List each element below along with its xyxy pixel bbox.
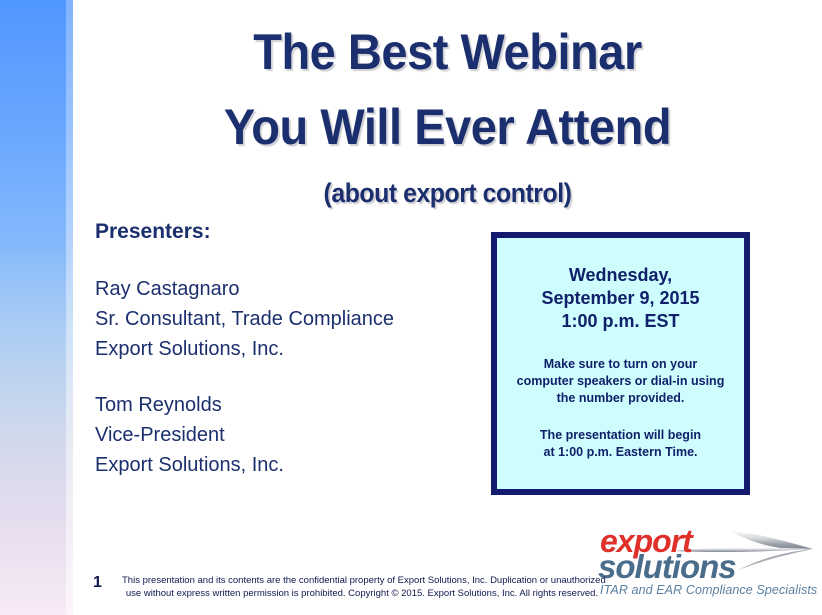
webinar-details-inner: Wednesday, September 9, 2015 1:00 p.m. E… (497, 238, 744, 489)
audio-instructions-line-3: the number provided. (507, 390, 734, 407)
copyright-footer-line-1: This presentation and its contents are t… (122, 575, 602, 588)
audio-instructions-line-1: Make sure to turn on your (507, 356, 734, 373)
presenter-entry: Ray Castagnaro Sr. Consultant, Trade Com… (95, 274, 485, 364)
slide-title-line-2: You Will Ever Attend (95, 100, 799, 154)
start-time-notice-line-2: at 1:00 p.m. Eastern Time. (507, 444, 734, 461)
slide-title-line-1: The Best Webinar (95, 25, 799, 79)
start-time-notice: The presentation will begin at 1:00 p.m.… (507, 427, 734, 461)
webinar-date: September 9, 2015 (507, 287, 734, 310)
presenters-section: Presenters: Ray Castagnaro Sr. Consultan… (95, 218, 485, 506)
presenter-title: Vice-President (95, 420, 485, 450)
webinar-day: Wednesday, (507, 264, 734, 287)
presenter-name: Ray Castagnaro (95, 274, 485, 304)
presenter-title: Sr. Consultant, Trade Compliance (95, 304, 485, 334)
logo-tagline: ITAR and EAR Compliance Specialists (600, 583, 817, 597)
copyright-footer-line-2: use without express written permission i… (122, 588, 602, 601)
presenter-company: Export Solutions, Inc. (95, 450, 485, 480)
webinar-details-box: Wednesday, September 9, 2015 1:00 p.m. E… (491, 232, 750, 495)
webinar-time: 1:00 p.m. EST (507, 310, 734, 333)
start-time-notice-line-1: The presentation will begin (507, 427, 734, 444)
presenter-name: Tom Reynolds (95, 390, 485, 420)
audio-instructions-line-2: computer speakers or dial-in using (507, 373, 734, 390)
logo-word-solutions: solutions (598, 550, 736, 583)
slide-page-number: 1 (93, 574, 102, 592)
company-logo: export solutions ITAR and EAR Compliance… (598, 521, 820, 601)
copyright-footer: This presentation and its contents are t… (122, 575, 602, 600)
slide-subtitle: (about export control) (103, 178, 792, 208)
presenters-heading: Presenters: (95, 218, 485, 245)
presenter-entry: Tom Reynolds Vice-President Export Solut… (95, 390, 485, 480)
left-gradient-bar-edge (66, 0, 73, 615)
presenter-company: Export Solutions, Inc. (95, 334, 485, 364)
presentation-slide: The Best Webinar You Will Ever Attend (a… (0, 0, 822, 615)
left-gradient-bar (0, 0, 73, 615)
audio-instructions: Make sure to turn on your computer speak… (507, 356, 734, 407)
